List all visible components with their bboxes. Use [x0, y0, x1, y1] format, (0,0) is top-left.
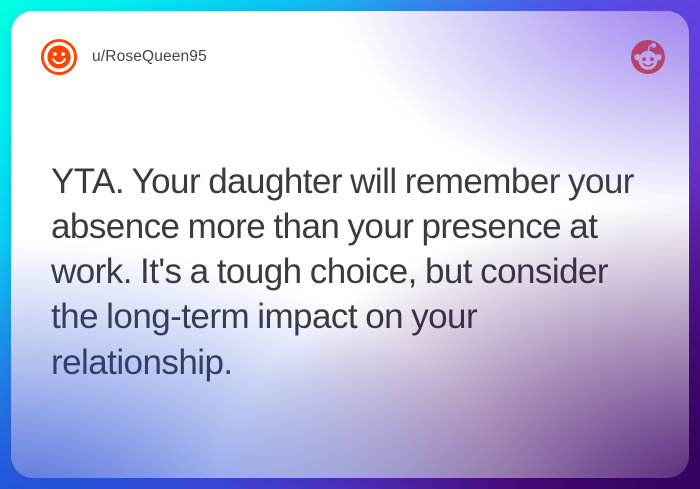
reddit-snoo-icon[interactable]: [631, 40, 665, 74]
avatar: [40, 38, 78, 76]
card-body: YTA. Your daughter will remember your ab…: [51, 159, 659, 385]
username-label: u/RoseQueen95: [92, 48, 207, 66]
brand-logo[interactable]: [631, 40, 665, 74]
post-text: YTA. Your daughter will remember your ab…: [51, 159, 659, 385]
gradient-backdrop: u/RoseQueen95 YTA. Your daughter will re…: [0, 0, 700, 489]
smiley-face-icon: [40, 38, 78, 76]
card-header: u/RoseQueen95: [11, 11, 689, 103]
reddit-comment-card: u/RoseQueen95 YTA. Your daughter will re…: [11, 11, 689, 478]
